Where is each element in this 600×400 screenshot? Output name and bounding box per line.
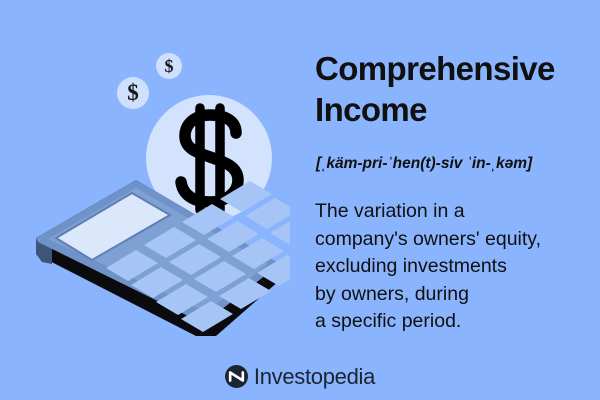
infographic-card: $ $ [0, 0, 600, 400]
term-definition: The variation in a company's owners' equ… [315, 198, 595, 336]
definition-line: by owners, during [315, 281, 595, 309]
definition-line: company's owners' equity, [315, 226, 595, 254]
definition-line: a specific period. [315, 308, 595, 336]
definition-line: excluding investments [315, 253, 595, 281]
dollar-coin-icon: $ [156, 53, 182, 79]
term-title: Comprehensive Income [315, 48, 590, 130]
illustration: $ $ [0, 0, 300, 400]
calculator-illustration [18, 168, 290, 353]
text-column: Comprehensive Income [ˌkäm-pri-ˈhen(t)-s… [315, 0, 590, 400]
investopedia-swoosh-icon [225, 365, 248, 388]
dollar-coin-icon: $ [117, 77, 149, 109]
footer-brand: Investopedia [0, 365, 600, 388]
term-pronunciation: [ˌkäm-pri-ˈhen(t)-siv ˈin-ˌkəm] [316, 155, 591, 173]
definition-line: The variation in a [315, 198, 595, 226]
brand-name: Investopedia [254, 365, 375, 388]
